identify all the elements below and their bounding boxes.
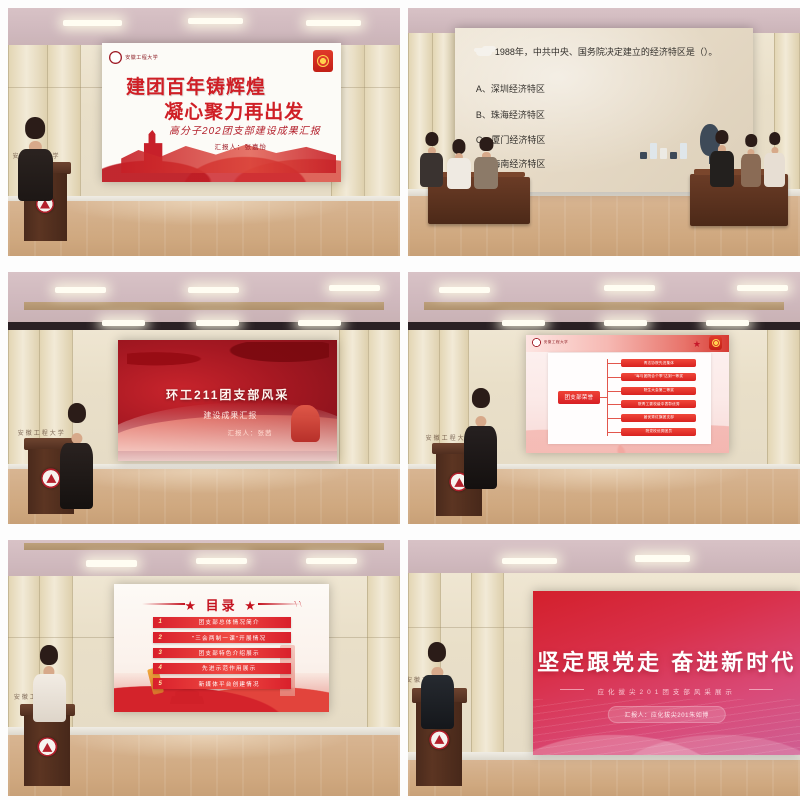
speaker [12,117,59,201]
slide-title-line2: 凝心聚力再出发 [164,97,304,124]
mindmap-connector [607,432,622,433]
student-head [480,137,493,151]
student-head [715,130,728,144]
slide-title: 环工211团支部风采 [166,386,289,403]
wall-panel [367,576,400,735]
ceiling-light [635,555,690,561]
floor-glow [55,735,353,761]
house-icon [660,148,667,159]
house-icon [680,143,687,159]
mindmap-connector [607,377,622,378]
ceiling [408,272,800,322]
university-name: 安徽工程大学 [125,54,158,61]
floor-glow [55,201,353,226]
auditorium-scene: 坚定跟党走 奋进新时代 应化拔尖201团支部风采展示 汇报人：应化拔尖201朱如… [408,540,800,796]
speaker [55,403,98,509]
ribbon-artwork [127,342,329,383]
university-logo: 安徽工程大学 [532,336,569,349]
mindmap-node: "每与团院合个季"达到一等奖 [621,373,696,381]
student-seated [471,137,502,189]
ceiling-light [604,285,655,291]
toc-item-label: "三会两制一课"开展情况 [168,634,291,642]
university-emblem-icon [38,737,57,756]
ceiling-beam [24,302,385,310]
quiz-option-a: A、深圳经济特区 [476,82,545,95]
floor-glow [55,469,353,494]
toc-item: 1 团支部总体情况简介 [153,617,291,628]
speaker-body [421,675,454,729]
house-icon [650,143,657,159]
ceiling-light [188,18,243,24]
ceiling-light [196,558,247,564]
led-screen-panel-1: 安徽工程大学 建团百年铸辉煌 凝心聚力再出发 高分子202团支部建设成果汇报 汇… [102,43,341,182]
ceiling-light [329,285,380,291]
university-emblem-icon [430,730,449,749]
house-icon [640,152,647,159]
auditorium-scene: 环工211团支部风采 建设成果汇报 汇报人：张茜 安徽工程大学 [8,272,400,524]
speaker-face [71,433,82,444]
speaker-body [33,674,66,722]
speaker [416,642,459,729]
mindmap-node: 院生大会第二等奖 [621,387,696,395]
statue-artwork [291,405,320,441]
auditorium-scene: ᭞ ᭞ ★ 目录 ★ 1 团支部总体情况简介 2 "三会两制一课"开展情况 3 … [8,540,400,796]
house-decor-icons [640,143,687,159]
ceiling-light [102,320,145,326]
wall-panel [367,330,400,469]
student-body [474,157,498,189]
speaker-body [464,426,497,489]
ceiling-light [196,320,239,326]
cloud-icon [476,48,492,56]
wall-panel [471,573,504,757]
photo-panel-3: 环工211团支部风采 建设成果汇报 汇报人：张茜 安徽工程大学 [8,272,400,524]
toc-item-label: 新媒体平台创建情况 [168,680,291,688]
speaker [28,645,71,722]
ceiling [8,272,400,322]
quiz-option-b: B、珠海经济特区 [476,108,545,121]
wall-panel [363,45,400,201]
quiz-question-text: 1988年，中共中央、国务院决定建立的经济特区是（）。 [495,47,718,57]
floor [408,760,800,796]
photo-panel-5: ᭞ ᭞ ★ 目录 ★ 1 团支部总体情况简介 2 "三会两制一课"开展情况 3 … [8,540,400,796]
speaker-body [18,149,54,201]
mindmap-connector [607,391,622,392]
slide-reporter: 汇报人：张茜 [228,427,273,437]
wall-panel [767,330,800,469]
student-head [769,132,781,145]
ceiling-light [298,320,341,326]
auditorium-scene: 安徽工程大学 ★ 团支部荣誉 青志协院先进集体 "每与团院合个季"达到一等奖 院… [408,272,800,524]
mindmap-node: 院党校优秀团员 [621,428,696,436]
student-head [425,132,438,146]
mindmap-node: 届优秀红旗团支部 [621,414,696,422]
student-seated [761,132,788,187]
toc-item-number: 5 [153,681,168,687]
toc-item-number: 1 [153,619,168,625]
slide-subtitle: 高分子202团支部建设成果汇报 [169,122,321,137]
student-head [452,139,465,153]
ceiling-light [306,20,361,26]
youth-league-badge-icon [709,336,722,350]
ceiling-beam [24,543,385,551]
led-screen-panel-4: 安徽工程大学 ★ 团支部荣誉 青志协院先进集体 "每与团院合个季"达到一等奖 院… [526,335,730,453]
toc-item: 2 "三会两制一课"开展情况 [153,632,291,643]
ceiling-light [439,287,490,293]
photo-panel-2: 1988年，中共中央、国务院决定建立的经济特区是（）。 A、深圳经济特区 B、珠… [408,8,800,256]
toc-item-label: 先进示范作用展示 [168,664,291,672]
mindmap-connector [607,404,622,405]
podium-body [24,715,70,785]
photo-panel-1: 安徽工程大学 建团百年铸辉煌 凝心聚力再出发 高分子202团支部建设成果汇报 汇… [8,8,400,256]
ceiling-light [55,287,106,293]
toc-item-label: 团支部特色介绍展示 [168,649,291,657]
toc-item-label: 团支部总体情况简介 [168,618,291,626]
mindmap-node: 青志协院先进集体 [621,359,696,367]
slide-title-line1: 建团百年铸辉煌 [126,72,266,99]
toc-item: 3 团支部特色介绍展示 [153,648,291,659]
mindmap-connector [607,418,622,419]
toc-item: 4 先进示范作用展示 [153,663,291,674]
badge-inner [712,339,720,347]
auditorium-scene: 安徽工程大学 建团百年铸辉煌 凝心聚力再出发 高分子202团支部建设成果汇报 汇… [8,8,400,256]
ceiling-light [706,320,749,326]
student-seated [706,130,737,187]
university-emblem-icon [532,338,541,347]
slide-title: 坚定跟党走 奋进新时代 [533,645,800,677]
toc-item: 5 新媒体平台创建情况 [153,678,291,689]
student-body [447,158,471,189]
mindmap-node: 院青工委校级中表彰优秀 [621,400,696,408]
ceiling-light [188,287,239,293]
slide-subtitle: 建设成果汇报 [203,410,257,421]
house-icon [670,152,677,159]
photo-collage: 安徽工程大学 建团百年铸辉煌 凝心聚力再出发 高分子202团支部建设成果汇报 汇… [0,0,800,800]
led-screen-panel-5: ᭞ ᭞ ★ 目录 ★ 1 团支部总体情况简介 2 "三会两制一课"开展情况 3 … [114,584,330,712]
led-screen-panel-6: 坚定跟党走 奋进新时代 应化拔尖201团支部风采展示 汇报人：应化拔尖201朱如… [533,591,800,755]
photo-panel-6: 坚定跟党走 奋进新时代 应化拔尖201团支部风采展示 汇报人：应化拔尖201朱如… [408,540,800,796]
student-body [764,153,785,187]
speaker-head [471,388,489,408]
badge-inner [317,55,329,67]
university-name: 安徽工程大学 [544,340,569,345]
mindmap-root-connector [600,397,607,398]
quiz-question: 1988年，中共中央、国务院决定建立的经济特区是（）。 [476,46,738,59]
speaker-body [60,443,93,509]
speaker [459,388,502,489]
university-emblem-icon [109,51,122,64]
slide-reporter: 汇报人：应化拔尖201朱如博 [607,706,725,723]
student-body [741,154,762,186]
toc-item-number: 4 [153,665,168,671]
toc-item-number: 2 [153,635,168,641]
ceiling-light [737,285,788,291]
youth-league-badge-icon [313,50,333,72]
ceiling-light [604,320,647,326]
ceiling-light [502,320,545,326]
mindmap-root-node: 团支部荣誉 [558,391,600,404]
photo-panel-4: 安徽工程大学 ★ 团支部荣誉 青志协院先进集体 "每与团院合个季"达到一等奖 院… [408,272,800,524]
slide-title: ★ 目录 ★ [114,595,330,614]
slide-reporter: 汇报人：张嘉怡 [214,141,267,151]
mindmap-canvas: 团支部荣誉 青志协院先进集体 "每与团院合个季"达到一等奖 院生大会第二等奖 院… [548,353,711,444]
slide-subtitle: 应化拔尖201团支部风采展示 [533,686,800,696]
university-logo: 安徽工程大学 [109,50,158,65]
student-body [710,151,734,186]
auditorium-scene: 1988年，中共中央、国务院决定建立的经济特区是（）。 A、深圳经济特区 B、珠… [408,8,800,256]
mindmap-spine [607,359,608,436]
ceiling-light [86,560,137,566]
speaker-head [428,642,446,662]
ceiling-beam [424,302,785,310]
star-icon: ★ [693,340,701,349]
speaker-head [40,645,58,665]
student-body [420,153,444,187]
speaker-head [26,117,46,139]
led-screen-panel-3: 环工211团支部风采 建设成果汇报 汇报人：张茜 [118,340,338,461]
toc-item-number: 3 [153,650,168,656]
ceiling-light [63,20,122,26]
ceiling-light [502,558,557,564]
ceiling-light [306,558,357,564]
student-head [745,134,757,147]
wall-panel [339,330,368,469]
speaker-head [68,403,86,423]
mindmap-connector [607,363,622,364]
